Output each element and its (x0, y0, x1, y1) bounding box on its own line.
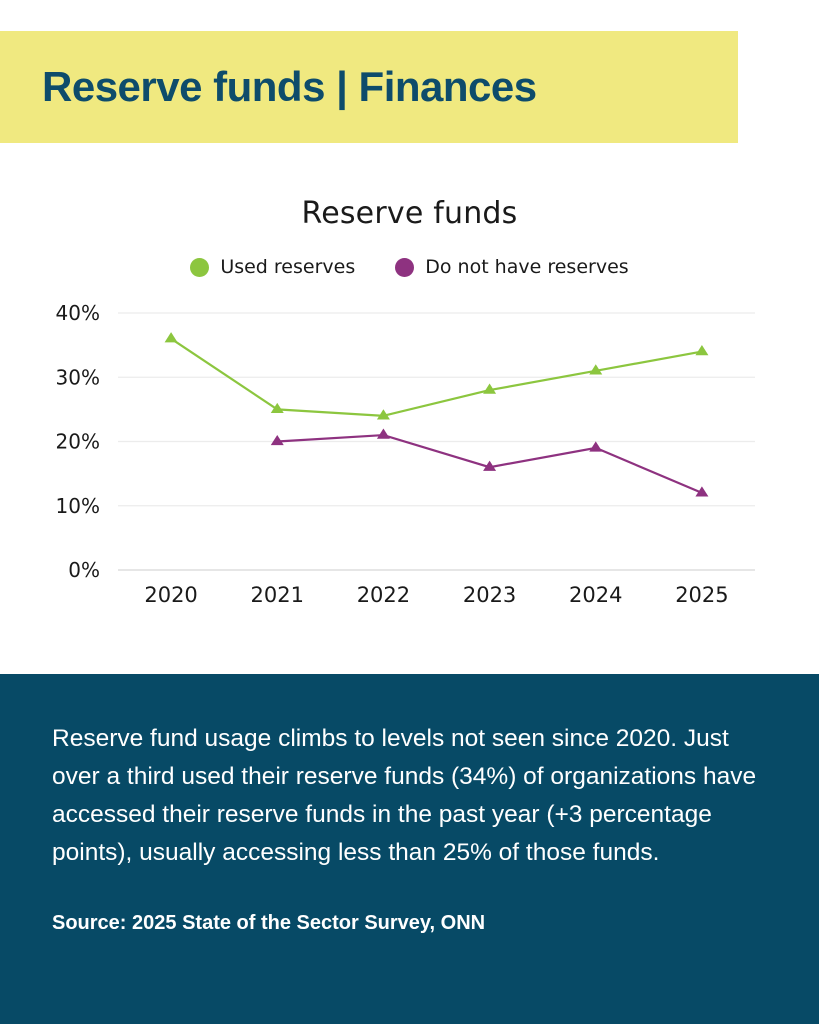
y-axis-tick-label: 20% (56, 430, 100, 454)
data-point-marker[interactable] (589, 441, 602, 451)
page-title: Reserve funds | Finances (42, 63, 537, 111)
x-axis-tick-label: 2024 (569, 583, 622, 607)
x-axis-tick-label: 2020 (144, 583, 197, 607)
line-chart-svg: 0%10%20%30%40%202020212022202320242025 (0, 143, 819, 674)
source-note: Source: 2025 State of the Sector Survey,… (52, 912, 767, 935)
x-axis-tick-label: 2023 (463, 583, 516, 607)
y-axis-tick-label: 0% (68, 558, 100, 582)
commentary-text: Reserve fund usage climbs to levels not … (52, 720, 767, 872)
y-axis-tick-label: 40% (56, 301, 100, 325)
infographic-page: Reserve funds | Finances Reserve funds U… (0, 0, 819, 1024)
data-point-marker[interactable] (271, 435, 284, 445)
data-point-marker[interactable] (271, 403, 284, 413)
data-point-marker[interactable] (165, 332, 178, 342)
commentary-panel: Reserve fund usage climbs to levels not … (0, 674, 819, 1024)
chart-container: Reserve funds Used reserves Do not have … (0, 143, 819, 674)
y-axis-tick-label: 10% (56, 494, 100, 518)
x-axis-tick-label: 2025 (675, 583, 728, 607)
plot-area: 0%10%20%30%40%202020212022202320242025 (0, 143, 819, 674)
header-banner: Reserve funds | Finances (0, 31, 738, 143)
y-axis-tick-label: 30% (56, 365, 100, 389)
data-point-marker[interactable] (377, 429, 390, 439)
data-point-marker[interactable] (695, 345, 708, 355)
x-axis-tick-label: 2021 (251, 583, 304, 607)
x-axis-tick-label: 2022 (357, 583, 410, 607)
